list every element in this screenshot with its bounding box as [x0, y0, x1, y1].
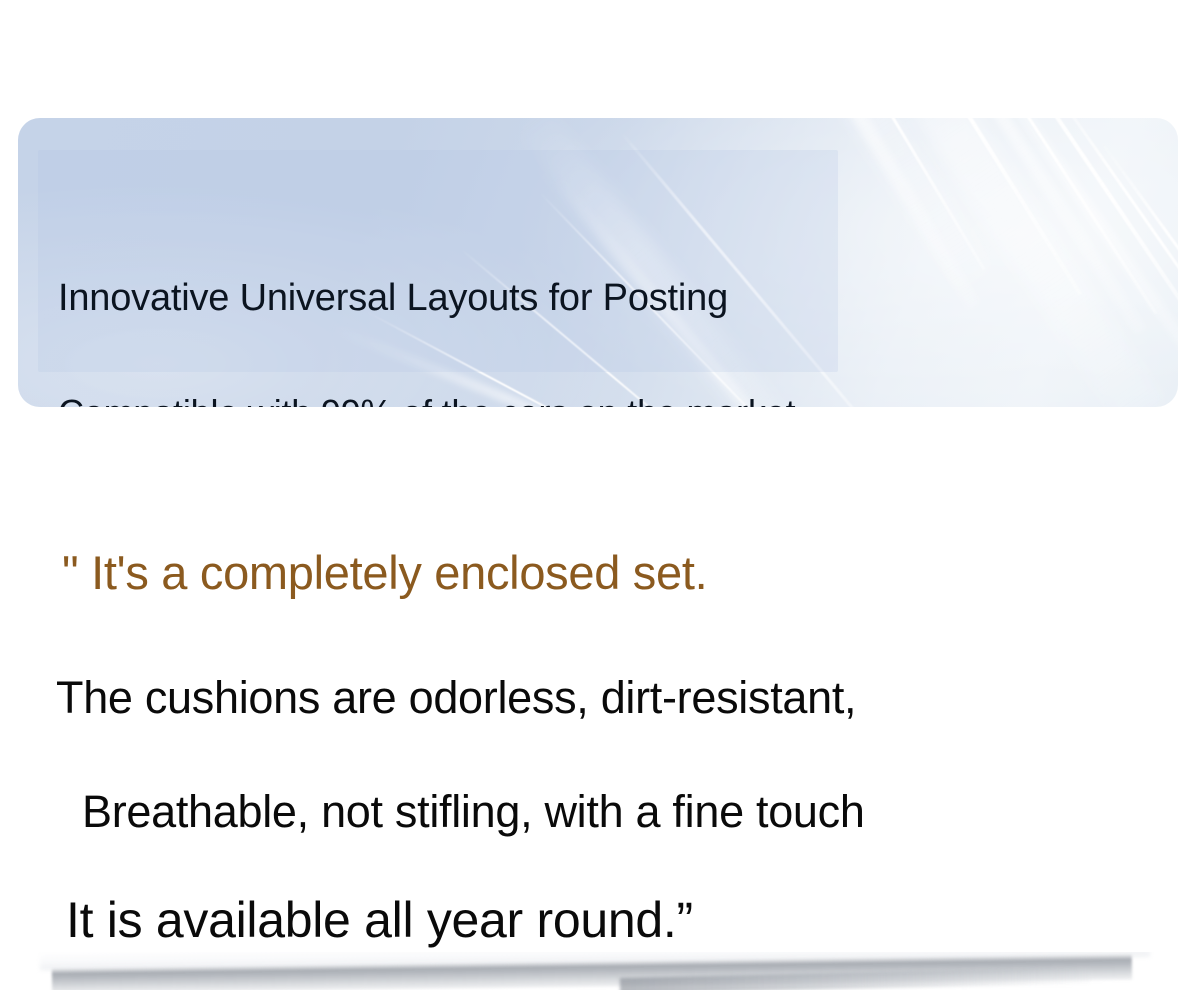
light-streak-soft — [965, 118, 1178, 394]
light-streak — [846, 118, 1082, 295]
light-streak — [985, 118, 1178, 345]
banner-subheadline: Compatible with 99% of the cars on the m… — [58, 392, 795, 407]
light-streak-soft — [880, 118, 1146, 334]
banner-headline: Innovative Universal Layouts for Posting — [58, 276, 728, 320]
quote-body-line-1: The cushions are odorless, dirt-resistan… — [56, 670, 856, 726]
light-streak-glow — [811, 118, 1166, 407]
slide-canvas: Innovative Universal Layouts for Posting… — [0, 0, 1200, 990]
banner-text-panel — [38, 150, 838, 372]
quote-body-line-2: Breathable, not stifling, with a fine to… — [82, 784, 865, 840]
product-photo-top-edge — [0, 952, 1200, 990]
light-streak — [1099, 139, 1178, 399]
light-streak — [1044, 118, 1178, 372]
feature-banner: Innovative Universal Layouts for Posting… — [18, 118, 1178, 407]
light-streak — [921, 118, 1158, 315]
quote-body-line-3: It is available all year round.” — [66, 890, 693, 950]
quote-opening-line: " It's a completely enclosed set. — [62, 544, 707, 602]
